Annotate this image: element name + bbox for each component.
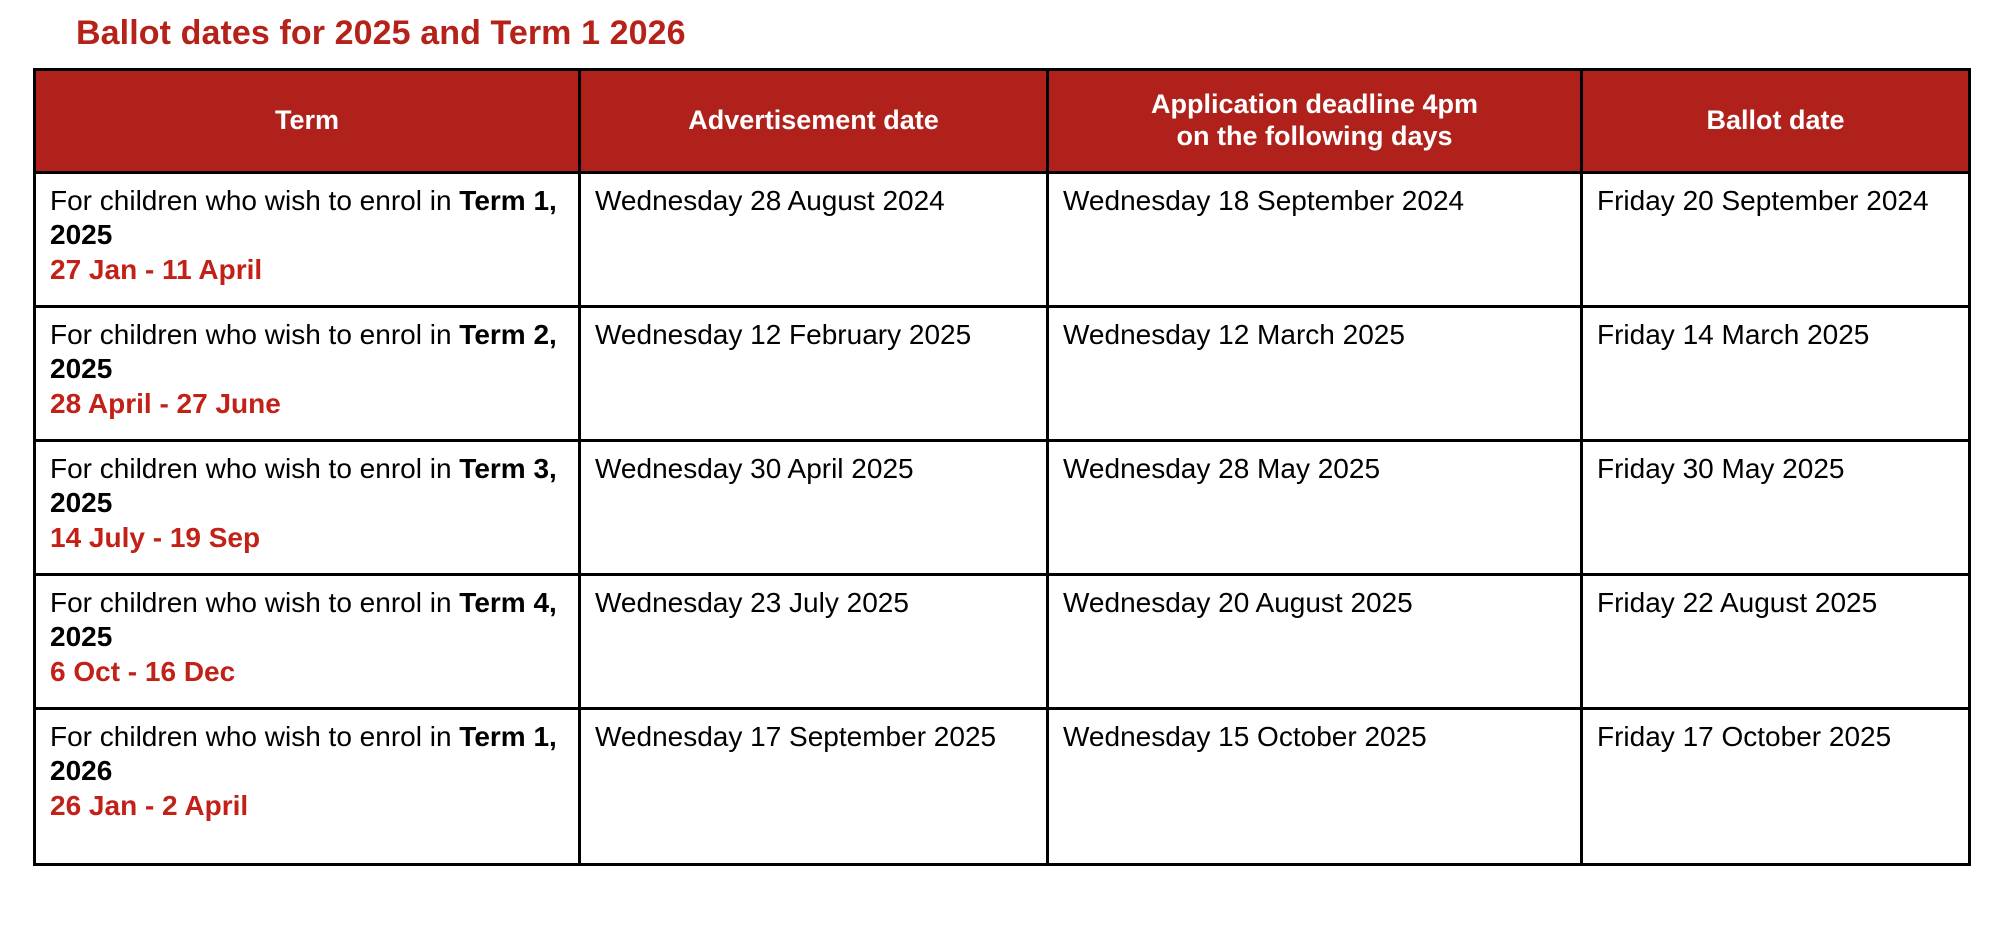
term-lead-text: For children who wish to enrol in xyxy=(50,453,459,484)
cell-application-deadline: Wednesday 28 May 2025 xyxy=(1048,441,1582,575)
term-date-range: 26 Jan - 2 April xyxy=(50,789,566,823)
term-lead-text: For children who wish to enrol in xyxy=(50,319,459,350)
table-row: For children who wish to enrol in Term 3… xyxy=(35,441,1970,575)
table-body: For children who wish to enrol in Term 1… xyxy=(35,173,1970,865)
cell-application-deadline: Wednesday 12 March 2025 xyxy=(1048,307,1582,441)
cell-advertisement-date: Wednesday 23 July 2025 xyxy=(580,575,1048,709)
term-date-range: 27 Jan - 11 April xyxy=(50,253,566,287)
cell-term: For children who wish to enrol in Term 2… xyxy=(35,307,580,441)
table-row: For children who wish to enrol in Term 4… xyxy=(35,575,1970,709)
ballot-dates-page: Ballot dates for 2025 and Term 1 2026 Te… xyxy=(0,0,2000,937)
cell-advertisement-date: Wednesday 28 August 2024 xyxy=(580,173,1048,307)
term-date-range: 28 April - 27 June xyxy=(50,387,566,421)
term-date-range: 6 Oct - 16 Dec xyxy=(50,655,566,689)
column-header-advertisement-date: Advertisement date xyxy=(580,70,1048,173)
cell-application-deadline: Wednesday 20 August 2025 xyxy=(1048,575,1582,709)
cell-term: For children who wish to enrol in Term 3… xyxy=(35,441,580,575)
cell-ballot-date: Friday 20 September 2024 xyxy=(1582,173,1970,307)
cell-ballot-date: Friday 17 October 2025 xyxy=(1582,709,1970,865)
table-header: Term Advertisement date Application dead… xyxy=(35,70,1970,173)
column-header-ballot-date: Ballot date xyxy=(1582,70,1970,173)
cell-ballot-date: Friday 22 August 2025 xyxy=(1582,575,1970,709)
cell-advertisement-date: Wednesday 30 April 2025 xyxy=(580,441,1048,575)
term-lead-text: For children who wish to enrol in xyxy=(50,587,459,618)
cell-application-deadline: Wednesday 18 September 2024 xyxy=(1048,173,1582,307)
term-lead-text: For children who wish to enrol in xyxy=(50,185,459,216)
term-lead-text: For children who wish to enrol in xyxy=(50,721,459,752)
cell-term: For children who wish to enrol in Term 1… xyxy=(35,173,580,307)
column-header-application-deadline: Application deadline 4pm on the followin… xyxy=(1048,70,1582,173)
page-title: Ballot dates for 2025 and Term 1 2026 xyxy=(76,14,686,53)
cell-advertisement-date: Wednesday 17 September 2025 xyxy=(580,709,1048,865)
table-row: For children who wish to enrol in Term 1… xyxy=(35,173,1970,307)
cell-term: For children who wish to enrol in Term 4… xyxy=(35,575,580,709)
cell-ballot-date: Friday 14 March 2025 xyxy=(1582,307,1970,441)
cell-ballot-date: Friday 30 May 2025 xyxy=(1582,441,1970,575)
table-header-row: Term Advertisement date Application dead… xyxy=(35,70,1970,173)
ballot-dates-table: Term Advertisement date Application dead… xyxy=(33,68,1971,866)
cell-advertisement-date: Wednesday 12 February 2025 xyxy=(580,307,1048,441)
column-header-application-deadline-line1: Application deadline 4pm xyxy=(1059,89,1570,121)
table-row: For children who wish to enrol in Term 2… xyxy=(35,307,1970,441)
column-header-term: Term xyxy=(35,70,580,173)
table-row: For children who wish to enrol in Term 1… xyxy=(35,709,1970,865)
cell-application-deadline: Wednesday 15 October 2025 xyxy=(1048,709,1582,865)
term-date-range: 14 July - 19 Sep xyxy=(50,521,566,555)
column-header-application-deadline-line2: on the following days xyxy=(1059,121,1570,153)
cell-term: For children who wish to enrol in Term 1… xyxy=(35,709,580,865)
